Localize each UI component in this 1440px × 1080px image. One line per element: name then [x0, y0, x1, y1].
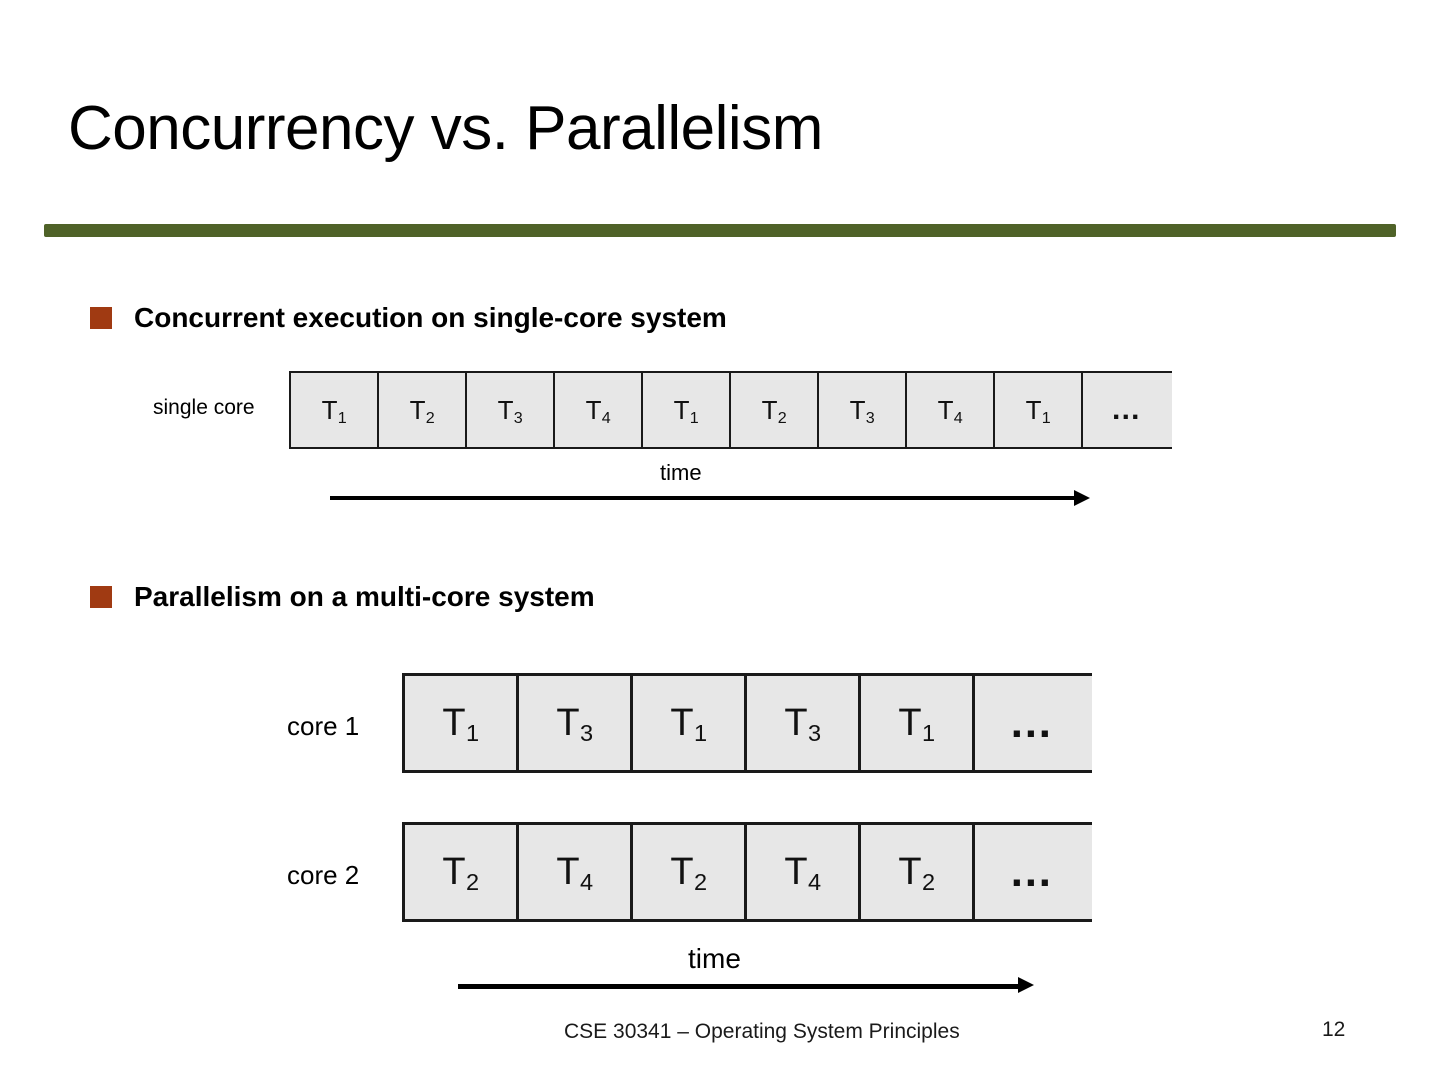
timeline-cell-label: T3: [850, 395, 875, 426]
bullet-item-concurrent: Concurrent execution on single-core syst…: [90, 302, 727, 334]
timeline-cell: …: [975, 676, 1092, 770]
timeline-cell-label: …: [1009, 698, 1058, 748]
timeline-cell-label: T4: [556, 851, 592, 894]
timeline-cell-label: T2: [762, 395, 787, 426]
timeline-cell-label: T4: [586, 395, 611, 426]
timeline-cell: T4: [747, 825, 861, 919]
time-axis-label: time: [660, 460, 702, 486]
page-title: Concurrency vs. Parallelism: [68, 96, 1388, 161]
timeline-cell: T4: [907, 373, 995, 447]
timeline-cell: T3: [747, 676, 861, 770]
bullet-item-parallelism: Parallelism on a multi-core system: [90, 581, 595, 613]
time-axis-multi-core: time: [458, 943, 1040, 995]
time-axis-label: time: [688, 943, 741, 975]
timeline-cell: T2: [731, 373, 819, 447]
timeline-cell: T1: [291, 373, 379, 447]
single-core-timeline: T1T2T3T4T1T2T3T4T1…: [289, 371, 1172, 449]
single-core-row-label: single core: [153, 396, 255, 420]
timeline-cell: T4: [519, 825, 633, 919]
timeline-cell-label: T2: [670, 851, 706, 894]
timeline-cell: T3: [519, 676, 633, 770]
timeline-cell-label: T2: [442, 851, 478, 894]
footer-course-text: CSE 30341 – Operating System Principles: [564, 1018, 964, 1046]
time-arrow-icon: [1018, 977, 1034, 993]
timeline-cell-label: T1: [442, 702, 478, 745]
core-2-timeline: T2T4T2T4T2…: [402, 822, 1092, 922]
timeline-cell: T2: [861, 825, 975, 919]
slide-page-number: 12: [1322, 1018, 1345, 1042]
timeline-cell-label: T1: [1026, 395, 1051, 426]
timeline-cell: …: [1083, 373, 1172, 447]
timeline-cell-label: T4: [784, 851, 820, 894]
timeline-cell: T1: [633, 676, 747, 770]
core-1-row-label: core 1: [287, 711, 359, 742]
time-axis-single-core: time: [330, 460, 1090, 506]
timeline-cell-label: T3: [498, 395, 523, 426]
bullet-label: Concurrent execution on single-core syst…: [134, 302, 727, 334]
timeline-cell: …: [975, 825, 1092, 919]
timeline-cell: T3: [819, 373, 907, 447]
timeline-cell-label: T3: [784, 702, 820, 745]
timeline-cell-label: …: [1009, 847, 1058, 897]
square-bullet-icon: [90, 586, 112, 608]
timeline-cell: T2: [379, 373, 467, 447]
timeline-cell-label: T1: [322, 395, 347, 426]
timeline-cell: T4: [555, 373, 643, 447]
timeline-cell-label: …: [1111, 393, 1145, 427]
timeline-cell: T1: [995, 373, 1083, 447]
timeline-cell: T2: [633, 825, 747, 919]
timeline-cell: T3: [467, 373, 555, 447]
timeline-cell: T1: [861, 676, 975, 770]
timeline-cell-label: T1: [670, 702, 706, 745]
core-1-timeline: T1T3T1T3T1…: [402, 673, 1092, 773]
timeline-cell: T1: [643, 373, 731, 447]
bullet-label: Parallelism on a multi-core system: [134, 581, 595, 613]
core-2-row-label: core 2: [287, 860, 359, 891]
timeline-cell-label: T1: [898, 702, 934, 745]
timeline-cell: T2: [405, 825, 519, 919]
time-axis-line: [330, 496, 1078, 500]
timeline-cell-label: T1: [674, 395, 699, 426]
timeline-cell-label: T2: [898, 851, 934, 894]
timeline-cell-label: T3: [556, 702, 592, 745]
title-divider: [44, 224, 1396, 237]
timeline-cell-label: T2: [410, 395, 435, 426]
timeline-cell: T1: [405, 676, 519, 770]
time-arrow-icon: [1074, 490, 1090, 506]
square-bullet-icon: [90, 307, 112, 329]
timeline-cell-label: T4: [938, 395, 963, 426]
time-axis-line: [458, 984, 1024, 989]
